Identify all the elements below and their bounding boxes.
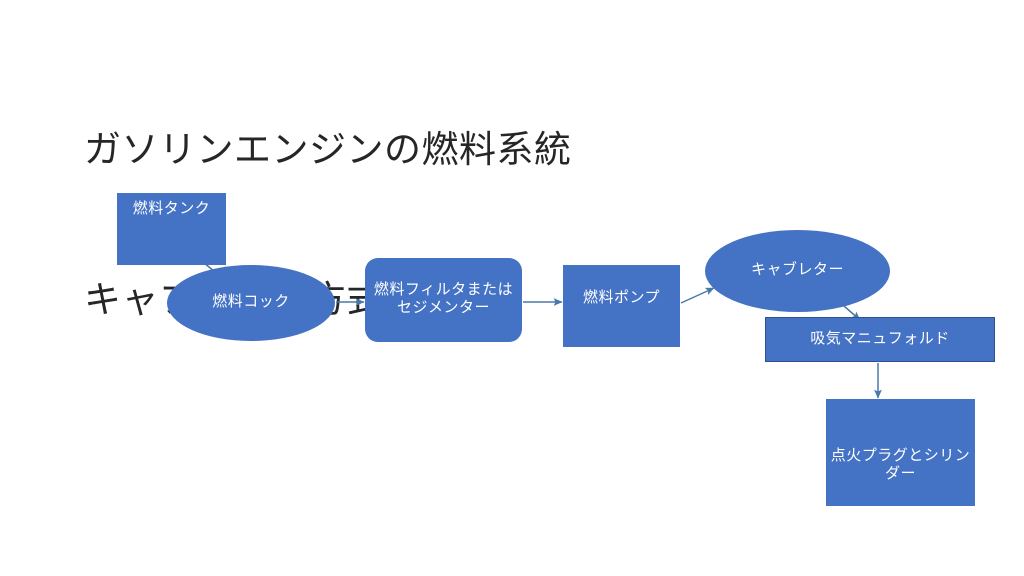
node-fuel-tank[interactable]: 燃料タンク — [117, 193, 226, 265]
node-fuel-filter[interactable]: 燃料フィルタまたはセジメンター — [365, 258, 522, 342]
node-fuel-cock-label: 燃料コック — [208, 294, 294, 312]
node-carburetor-label: キャブレター — [747, 262, 848, 280]
node-fuel-pump-label: 燃料ポンプ — [579, 290, 664, 308]
node-fuel-cock[interactable]: 燃料コック — [167, 265, 335, 341]
fuel-system-flowchart: 燃料タンク 燃料コック 燃料フィルタまたはセジメンター 燃料ポンプ キャブレター… — [0, 0, 1024, 576]
node-spark-plug-cylinder[interactable]: 点火プラグとシリンダー — [826, 399, 975, 506]
node-fuel-tank-label: 燃料タンク — [129, 201, 215, 219]
node-spark-plug-cylinder-label: 点火プラグとシリンダー — [826, 448, 975, 483]
slide-canvas: ガソリンエンジンの燃料系統 キャブレター方式 燃料 — [0, 0, 1024, 576]
edge-fuel-pump-to-carburetor — [681, 288, 714, 303]
node-carburetor[interactable]: キャブレター — [705, 230, 890, 312]
node-intake-manifold[interactable]: 吸気マニュフォルド — [765, 317, 995, 362]
node-fuel-pump[interactable]: 燃料ポンプ — [563, 265, 680, 347]
node-intake-manifold-label: 吸気マニュフォルド — [806, 331, 954, 349]
node-fuel-filter-label: 燃料フィルタまたはセジメンター — [365, 282, 522, 317]
